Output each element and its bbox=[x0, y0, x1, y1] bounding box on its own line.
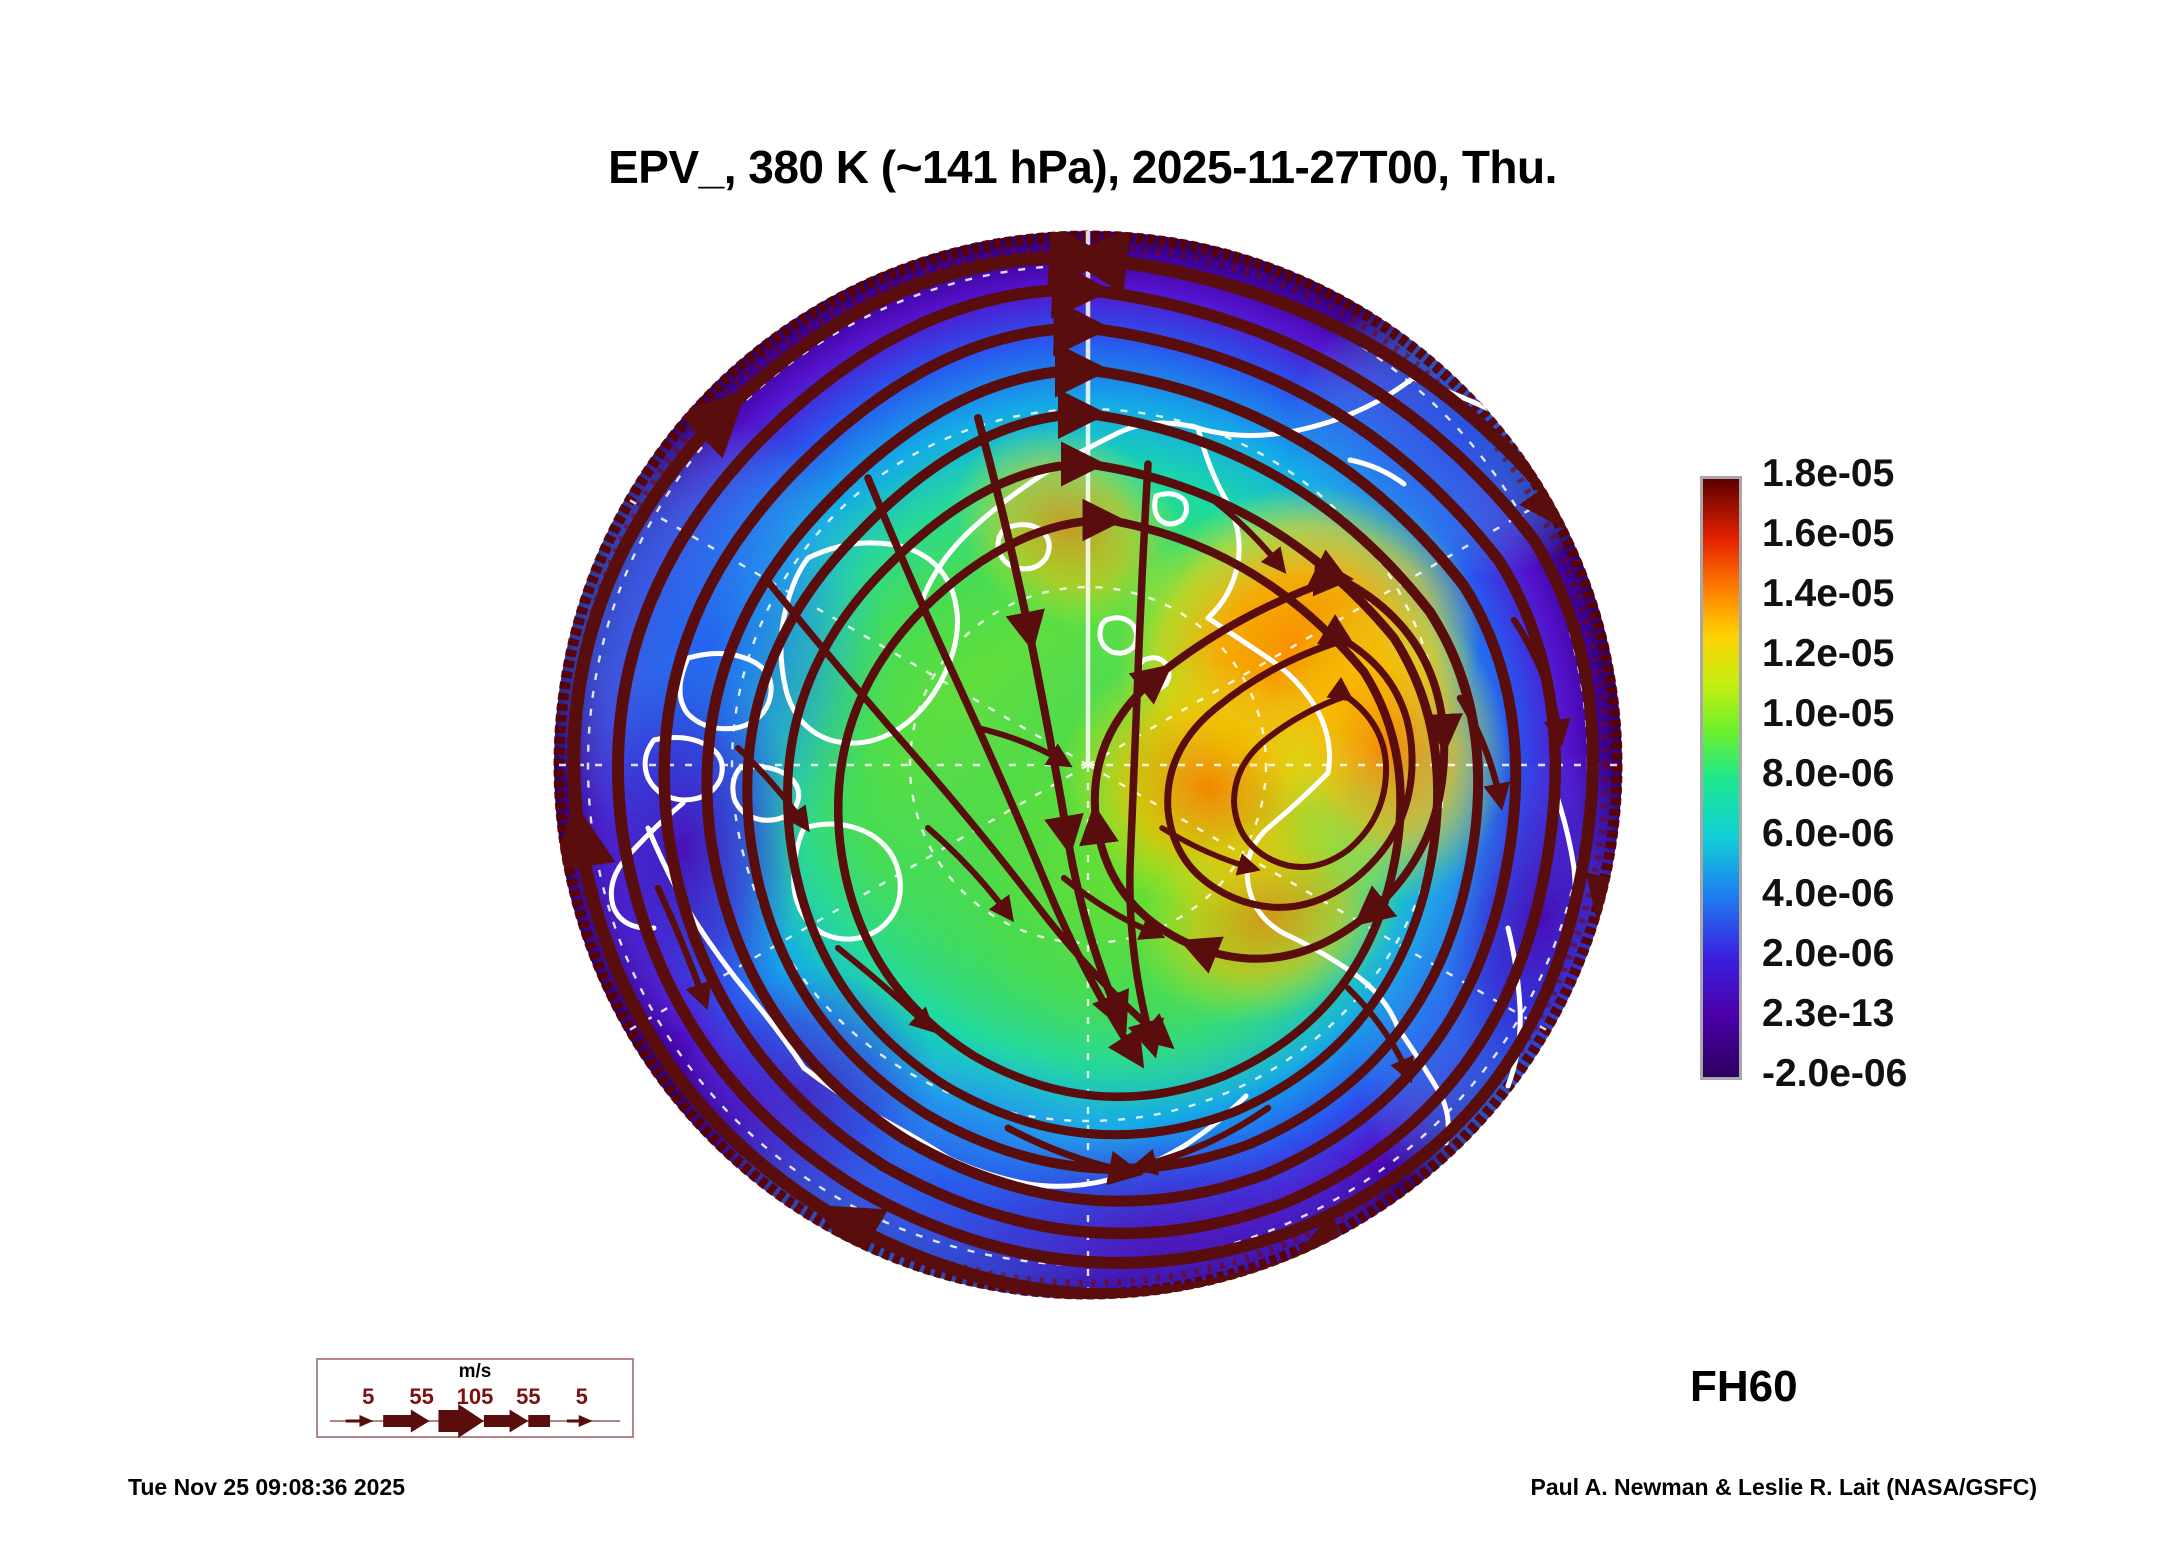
wind-legend-arrows bbox=[318, 1404, 632, 1438]
colorbar-tick-labels: 1.8e-05 1.6e-05 1.4e-05 1.2e-05 1.0e-05 … bbox=[1762, 454, 2102, 1104]
colorbar-tick-6: 6.0e-06 bbox=[1762, 814, 1894, 853]
colorbar-tick-4: 1.0e-05 bbox=[1762, 694, 1894, 733]
polar-map bbox=[508, 228, 1668, 1303]
colorbar-tick-3: 1.2e-05 bbox=[1762, 634, 1894, 673]
forecast-hour-label: FH60 bbox=[1690, 1362, 1798, 1412]
colorbar-tick-7: 4.0e-06 bbox=[1762, 874, 1894, 913]
colorbar-tick-1: 1.6e-05 bbox=[1762, 514, 1894, 553]
wind-speed-legend: m/s 5 55 105 55 5 bbox=[316, 1358, 634, 1438]
colorbar-tick-10: -2.0e-06 bbox=[1762, 1054, 1907, 1093]
generated-timestamp: Tue Nov 25 09:08:36 2025 bbox=[128, 1474, 405, 1501]
wind-legend-units: m/s bbox=[318, 1361, 632, 1383]
colorbar-tick-2: 1.4e-05 bbox=[1762, 574, 1894, 613]
colorbar-tick-8: 2.0e-06 bbox=[1762, 934, 1894, 973]
colorbar: 1.8e-05 1.6e-05 1.4e-05 1.2e-05 1.0e-05 … bbox=[1700, 476, 2120, 1086]
author-credit: Paul A. Newman & Leslie R. Lait (NASA/GS… bbox=[1530, 1474, 2037, 1501]
colorbar-tick-9: 2.3e-13 bbox=[1762, 994, 1894, 1033]
polar-map-svg bbox=[508, 228, 1668, 1303]
page-title: EPV_, 380 K (~141 hPa), 2025-11-27T00, T… bbox=[0, 140, 2165, 194]
colorbar-tick-5: 8.0e-06 bbox=[1762, 754, 1894, 793]
colorbar-gradient bbox=[1700, 476, 1742, 1080]
colorbar-tick-0: 1.8e-05 bbox=[1762, 454, 1894, 493]
